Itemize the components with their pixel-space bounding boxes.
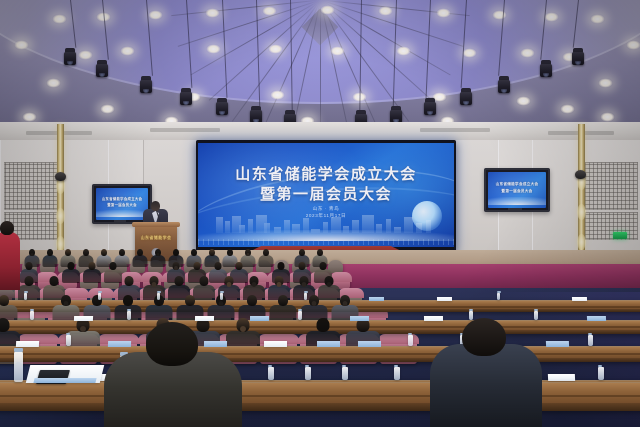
security-camera-right	[575, 170, 586, 179]
audience-member-torso	[151, 255, 166, 267]
water-bottle	[408, 335, 413, 346]
stage-moving-head-light	[140, 76, 152, 93]
bottle-cap	[588, 333, 592, 335]
desk-document	[572, 297, 587, 301]
water-bottle	[598, 367, 604, 380]
audience-desk-row	[0, 346, 640, 362]
bottle-cap	[394, 365, 398, 367]
stage-moving-head-light	[64, 48, 76, 65]
desk-document	[15, 341, 38, 347]
ceiling-downlight	[262, 6, 277, 16]
bottle-cap	[127, 309, 131, 311]
ceiling-downlight	[436, 8, 451, 18]
audience-member-head	[101, 249, 107, 256]
audience-member-torso	[241, 255, 256, 267]
audience-member-head	[320, 262, 327, 270]
audience-member-head	[65, 249, 71, 256]
water-bottle	[588, 335, 593, 346]
bottle-cap	[342, 365, 346, 367]
audience-member-hair-bun	[247, 253, 250, 256]
ceiling-downlight	[268, 44, 283, 54]
side-monitor-left-line2: 暨第一届会员大会	[96, 202, 148, 207]
ceiling-downlight	[78, 50, 93, 60]
exit-sign	[613, 232, 627, 239]
water-bottle	[127, 311, 131, 320]
stage-moving-head-light	[498, 76, 510, 93]
stage-moving-head-light	[424, 98, 436, 115]
audience-member-hair-bun	[80, 326, 86, 332]
stage-moving-head-light	[572, 48, 584, 65]
desk-document	[195, 316, 214, 321]
audience-member-head	[50, 276, 59, 286]
ceiling	[0, 0, 640, 132]
side-monitor-right-line1: 山东省储能学会成立大会	[488, 182, 546, 187]
ceiling-downlight	[396, 46, 411, 56]
audience-member-hair-bun	[152, 282, 157, 287]
water-bottle	[469, 311, 473, 320]
desk-document	[350, 316, 369, 321]
audience-member-head	[83, 249, 89, 256]
audience-member-torso	[259, 255, 274, 267]
seat-headrest-trim	[378, 334, 419, 344]
water-bottle	[394, 367, 400, 380]
acoustic-panel-right-2	[580, 212, 638, 240]
audience-member-head	[0, 318, 9, 332]
ceiling-downlight	[560, 104, 575, 114]
audience-member-head	[316, 318, 329, 332]
ceiling-downlight	[520, 48, 535, 58]
screen-subtitle-date: 2023年11月17日	[198, 213, 454, 220]
podium-top	[132, 222, 180, 227]
desk-groove	[0, 395, 640, 397]
main-led-screen: 山东省储能学会成立大会 暨第一届会员大会 山东 · 青岛 2023年11月17日	[196, 140, 456, 252]
foreground-attendee-head-right	[462, 318, 506, 356]
ceiling-downlight	[516, 96, 531, 106]
desk-document-blue	[33, 378, 96, 383]
bottle-cap	[598, 365, 602, 367]
stage-moving-head-light	[460, 88, 472, 105]
ceiling-downlight	[14, 40, 29, 50]
water-bottle	[304, 293, 307, 300]
audience-member-head	[68, 262, 75, 270]
ceiling-downlight	[330, 46, 345, 56]
audience-member-head	[123, 295, 133, 306]
screen-title-line1: 山东省储能学会成立大会	[198, 165, 454, 184]
desk-document	[548, 374, 575, 381]
desk-document	[250, 316, 269, 321]
stage-moving-head-light	[390, 106, 402, 123]
speaker-head	[151, 201, 160, 211]
audience-member-head	[0, 295, 9, 306]
water-bottle	[24, 293, 27, 300]
audience-member-torso	[133, 255, 148, 267]
audience-member-head	[215, 262, 222, 270]
audience-member-head	[191, 249, 197, 256]
audience-member-head	[236, 262, 243, 270]
ceiling-downlight	[626, 40, 640, 50]
attendee-red-jacket-head	[0, 221, 14, 235]
desk-groove	[0, 353, 640, 355]
audience-member-head	[299, 249, 305, 256]
desk-document	[424, 316, 443, 321]
desk-document	[108, 341, 131, 347]
security-camera-left	[55, 172, 66, 181]
audience-member-hair-bun	[277, 282, 282, 287]
water-bottle	[305, 367, 311, 380]
foreground-attendee-head	[146, 322, 198, 366]
audience-member-head	[317, 249, 323, 256]
bottle-cap	[298, 309, 302, 311]
ceiling-seam	[320, 0, 321, 132]
desk-document	[204, 341, 227, 347]
side-monitor-right: 山东省储能学会成立大会 暨第一届会员大会	[484, 168, 550, 212]
audience-member-head	[263, 249, 269, 256]
water-bottle	[66, 335, 71, 346]
ceiling-downlight	[52, 14, 67, 24]
stage-moving-head-light	[250, 106, 262, 123]
audience-member-hair-bun	[174, 266, 178, 270]
bottle-cap	[268, 365, 272, 367]
acoustic-panel-right	[580, 162, 638, 210]
desk-document	[74, 316, 93, 321]
ceiling-downlight	[46, 78, 61, 88]
audience-member-hair-bun	[227, 282, 232, 287]
desk-lip	[0, 358, 640, 363]
audience-member-head	[89, 262, 96, 270]
ceiling-downlight	[270, 90, 285, 100]
audience-member-head	[299, 262, 306, 270]
water-bottle	[220, 293, 223, 300]
podium-label: 山东省储能学会	[135, 235, 177, 241]
bottle-cap	[14, 348, 23, 352]
audience-member-hair-bun	[311, 301, 316, 306]
desk-document	[437, 297, 452, 301]
audience-member-hair-bun	[218, 301, 223, 306]
bottle-cap	[24, 291, 28, 293]
audience-member-hair-bun	[342, 301, 347, 306]
desk-document	[317, 341, 340, 347]
front-desk-row	[0, 382, 640, 411]
audience-member-head	[175, 276, 184, 286]
audience-member-torso	[115, 255, 130, 267]
water-bottle	[14, 352, 23, 382]
desk-document	[358, 341, 381, 347]
side-monitor-left-line1: 山东省储能学会成立大会	[96, 196, 148, 201]
water-bottle	[268, 367, 274, 380]
audience-member-hair-bun	[157, 253, 160, 256]
acoustic-panel-left	[4, 162, 58, 210]
side-monitor-right-line2: 暨第一届会员大会	[488, 189, 546, 194]
ceiling-downlight	[590, 14, 605, 24]
audience-member-head	[119, 249, 125, 256]
screen-title-line2: 暨第一届会员大会	[198, 185, 454, 204]
stage-moving-head-light	[216, 98, 228, 115]
audience-member-torso	[43, 255, 58, 267]
stage-moving-head-light	[540, 60, 552, 77]
water-bottle	[298, 311, 302, 320]
bottle-cap	[220, 291, 224, 293]
audience-member-hair-bun	[302, 282, 307, 287]
audience-member-hair-bun	[63, 301, 68, 306]
ceiling-downlight	[22, 112, 37, 122]
ceiling-downlight	[378, 6, 393, 16]
screen-subtitle-location: 山东 · 青岛	[198, 206, 454, 213]
audience-member-torso	[83, 269, 101, 283]
audience-member-hair-bun	[229, 253, 232, 256]
desk-document	[587, 316, 606, 321]
audience-member-head	[47, 249, 53, 256]
ceiling-downlight	[320, 5, 335, 15]
audience-member-head	[125, 276, 134, 286]
audience-member-head	[173, 249, 179, 256]
audience-member-torso	[104, 269, 122, 283]
desk-lip	[0, 403, 640, 411]
ceiling-downlight	[205, 8, 220, 18]
ceiling-downlight	[598, 78, 613, 88]
audience-member-head	[247, 295, 257, 306]
water-bottle	[342, 367, 348, 380]
audience-member-hair-bun	[252, 282, 257, 287]
desk-document	[369, 297, 384, 301]
audience-member-head	[209, 249, 215, 256]
audience-member-head	[25, 276, 34, 286]
ceiling-downlight	[600, 112, 615, 122]
audience-member-torso	[62, 269, 80, 283]
audience-member-hair-bun	[327, 282, 332, 287]
conference-hall-photo: 山东省储能学会成立大会 暨第一届会员大会 山东省储能学会成立大会 暨第一届会员大…	[0, 0, 640, 427]
ceiling-downlight	[462, 48, 477, 58]
desk-document	[264, 341, 287, 347]
audience-member-head	[278, 295, 288, 306]
bottle-cap	[30, 309, 34, 311]
audience-member-head	[278, 262, 285, 270]
audience-member-head	[200, 276, 209, 286]
audience-member-head	[185, 295, 195, 306]
water-bottle	[157, 293, 160, 300]
bottle-cap	[66, 333, 70, 335]
ceiling-downlight	[492, 10, 507, 20]
bottle-cap	[305, 365, 309, 367]
audience-member-head	[110, 262, 117, 270]
bottle-cap	[408, 333, 412, 335]
bottle-cap	[304, 291, 308, 293]
bottle-cap	[534, 309, 538, 311]
bottle-cap	[497, 291, 501, 293]
water-bottle	[497, 293, 500, 300]
water-bottle	[30, 311, 34, 320]
bottle-cap	[469, 309, 473, 311]
ceiling-downlight	[120, 46, 135, 56]
stage-moving-head-light	[96, 60, 108, 77]
audience-member-hair-bun	[240, 326, 246, 332]
ceiling-downlight	[148, 10, 163, 20]
audience-member-hair-bun	[31, 253, 34, 256]
ceiling-downlight	[206, 44, 221, 54]
foreground-attendee-torso-right	[430, 344, 542, 427]
attendee-red-jacket	[0, 232, 20, 290]
water-bottle	[534, 311, 538, 320]
bottle-cap	[157, 291, 161, 293]
ceiling-downlight	[544, 12, 559, 22]
audience-member-head	[137, 249, 143, 256]
ceiling-downlight	[100, 104, 115, 114]
stage-moving-head-light	[180, 88, 192, 105]
audience-member-head	[194, 262, 201, 270]
desk-document	[546, 341, 569, 347]
audience-member-head	[26, 262, 33, 270]
